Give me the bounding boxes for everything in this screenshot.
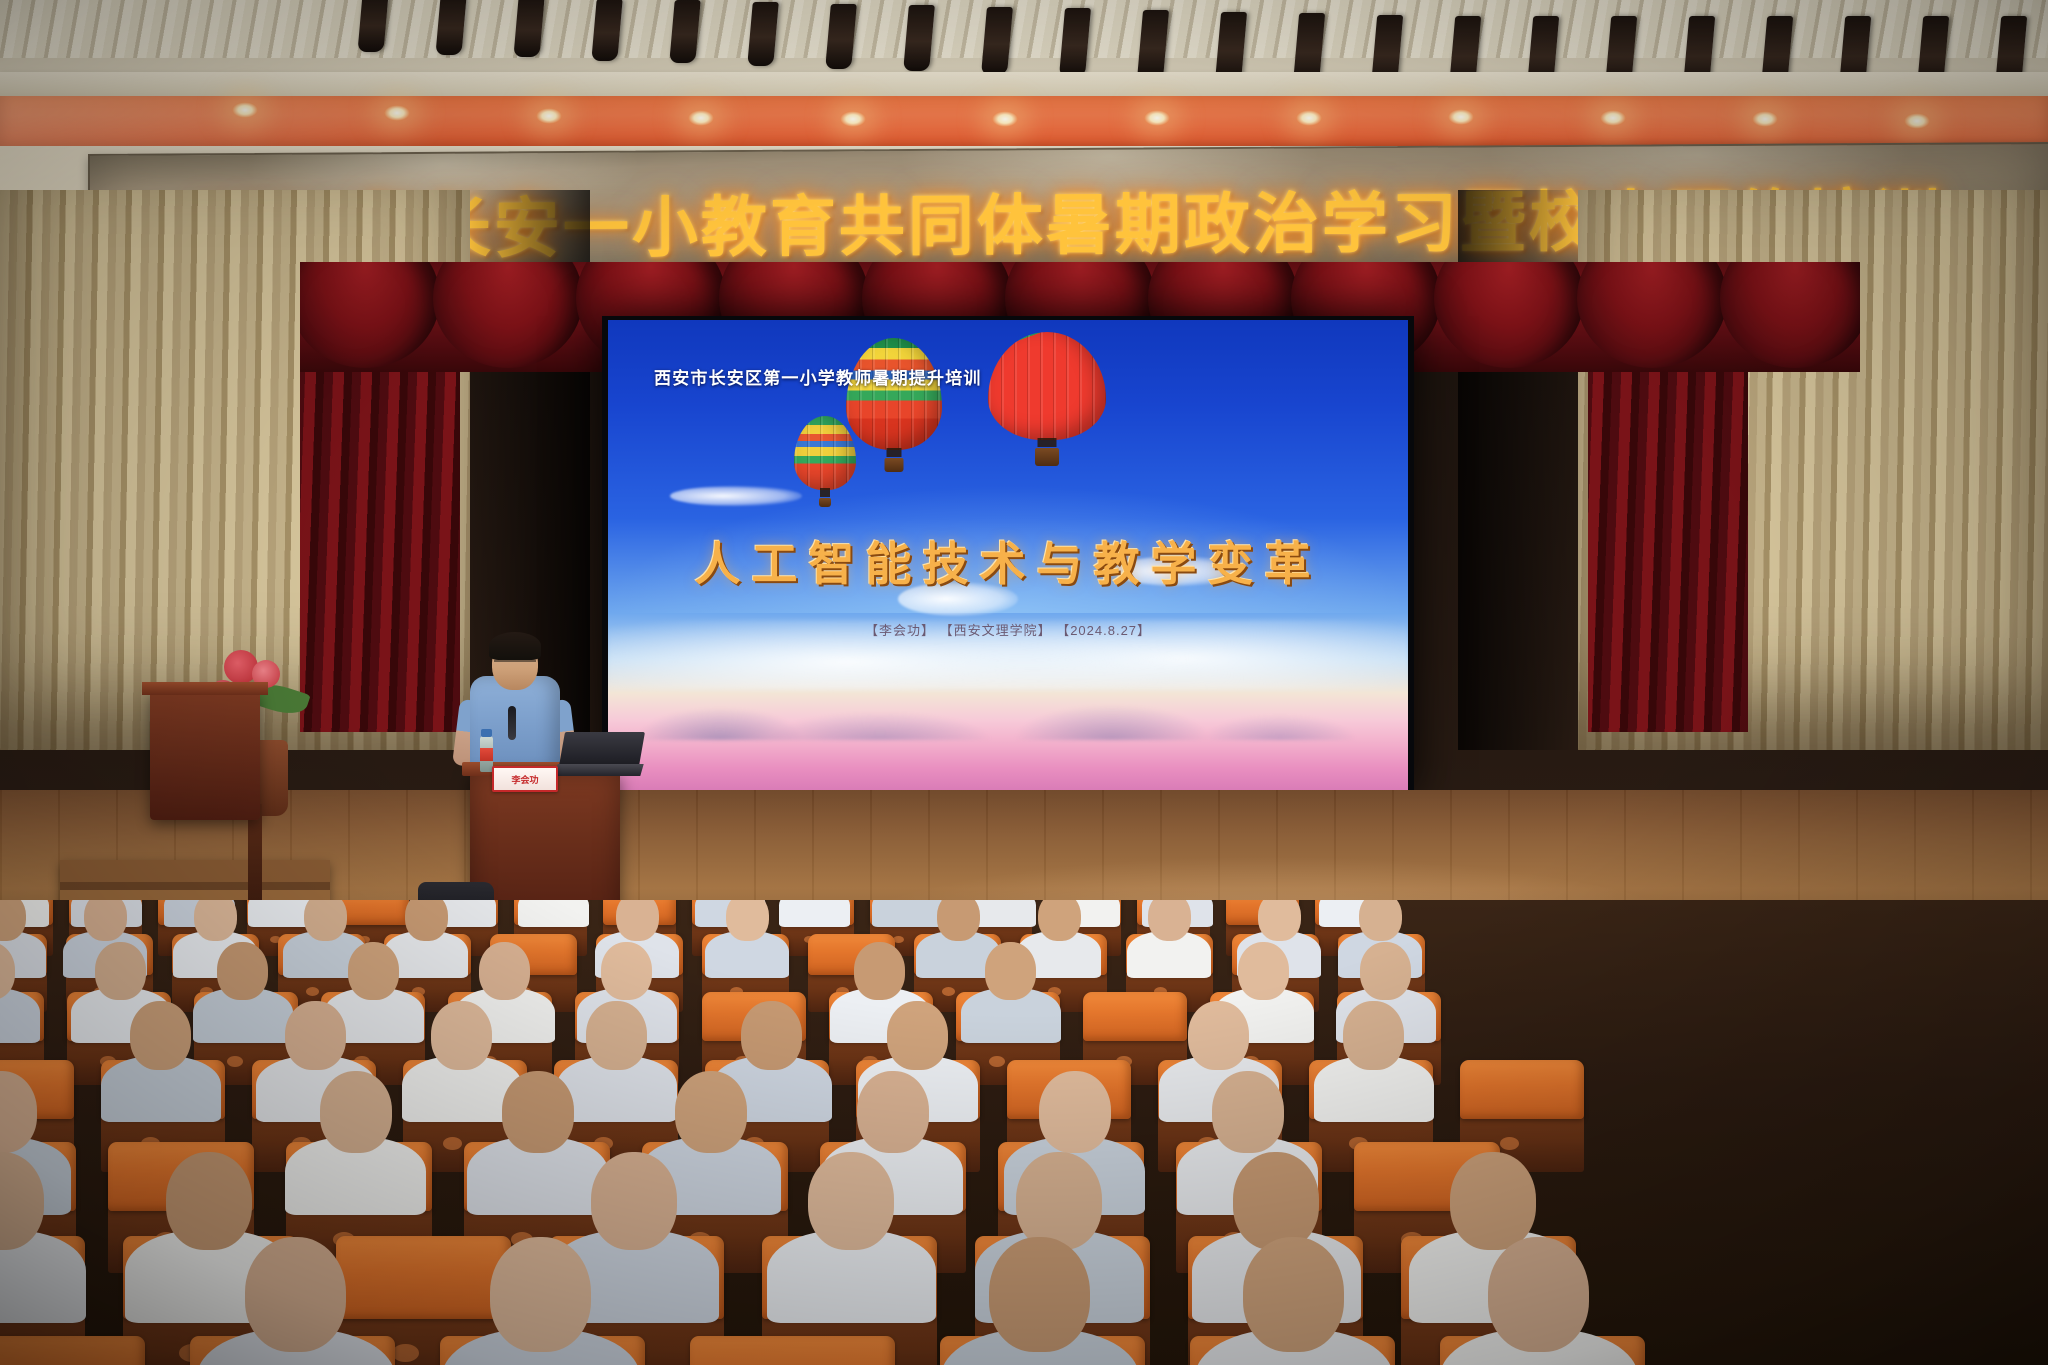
attendee-head [194,900,237,941]
side-lectern [150,690,260,820]
attendee-head [989,1237,1090,1352]
auditorium-seat[interactable] [336,1236,511,1319]
balloon-rainbow-small [794,416,856,490]
glasses-icon [494,660,536,670]
curtain-swag [300,262,440,368]
auditorium-seat[interactable] [690,1336,895,1365]
seat-emblem [392,1344,419,1362]
attendee-head [1039,1071,1111,1153]
attendee-head [245,1237,346,1352]
auditorium-seat[interactable] [1083,992,1187,1041]
attendee-head [854,942,905,1000]
attendee-head [675,1071,747,1153]
attendee-head [1148,900,1191,941]
attendee-head [1359,900,1402,941]
balloon-burner [887,448,902,457]
attendee-head [1243,1237,1344,1352]
seat-emblem [893,936,904,943]
attendee-head [84,900,127,941]
bottle-label [480,748,493,761]
balloon-gores [846,338,942,450]
attendee-shoulders [518,900,589,927]
slide-header: 西安市长安区第一小学教师暑期提升培训 [608,364,1408,389]
curtain-swag [433,262,583,368]
microphone-icon [508,706,516,740]
laptop-keyboard [554,764,643,776]
balloon-envelope [794,416,856,490]
attendee-head [741,1001,802,1070]
ceiling-fin [591,0,622,60]
seat-emblem [443,1137,462,1150]
cloud-wisp-left [670,486,802,506]
ceiling-fin [357,0,388,52]
attendee-head [1488,1237,1589,1352]
auditorium-seat[interactable] [0,1336,145,1365]
attendee-head [726,900,769,941]
attendee-head [1343,1001,1404,1070]
attendee-head [1360,942,1411,1000]
ceiling-downlight [688,110,714,126]
attendee-shoulders [779,900,850,927]
ceiling-downlight [1600,110,1626,126]
ceiling-slats [0,0,2048,58]
bottle-cap [481,729,492,737]
attendee-head [502,1071,574,1153]
balloon-basket [885,458,904,472]
attendee-head [1212,1071,1284,1153]
balloon-rainbow-large [846,338,942,450]
attendee-head [601,942,652,1000]
attendee-head [130,1001,191,1070]
attendee-head [320,1071,392,1153]
auditorium-seat[interactable] [1460,1060,1584,1119]
ceiling-downlight [232,102,258,118]
attendee-shoulders [872,900,943,927]
balloon-burner [1038,438,1057,447]
attendee-head [808,1152,894,1250]
seat-emblem [989,1056,1005,1067]
attendee-head [591,1152,677,1250]
attendee-head [1016,1152,1102,1250]
presentation-screen[interactable]: 西安市长安区第一小学教师暑期提升培训 人工智能技术与教学变革 【李会功】 【西安… [608,320,1408,792]
speaker-nameplate: 李会功 [492,766,558,792]
attendee-head [217,942,268,1000]
ceiling-downlight [840,111,866,127]
laptop-screen [559,732,645,766]
attendee-head [1238,942,1289,1000]
attendee-head [937,900,980,941]
auditorium-seat[interactable] [336,900,409,925]
attendee-head [1258,900,1301,941]
curtain-swag [1434,262,1584,368]
ceiling-downlight [1296,110,1322,126]
ceiling-fin [513,0,544,58]
slide-credits: 【李会功】 【西安文理学院】 【2024.8.27】 [608,620,1408,639]
side-lectern-top [142,682,268,695]
ceiling-fin [435,0,466,55]
attendee-head [285,1001,346,1070]
attendee-head [1450,1152,1536,1250]
curtain-swag [1720,262,1860,368]
attendee-head [348,942,399,1000]
attendee-head [166,1152,252,1250]
balloon-burner [820,488,830,497]
audience-seating [0,900,2048,1365]
attendee-head [1188,1001,1249,1070]
ceiling-downlight [992,111,1018,127]
attendee-head [405,900,448,941]
attendee-head [857,1071,929,1153]
attendee-head [586,1001,647,1070]
balloon-envelope [846,338,942,450]
distant-mountains [608,680,1408,740]
balloon-basket [819,498,831,507]
ceiling-fin [669,0,700,63]
attendee-head [431,1001,492,1070]
auditorium-photo: 2024年长安一小教育共同体暑期政治学习暨校本研修培训 西安市长安区第一小学教师… [0,0,2048,1365]
attendee-head [95,942,146,1000]
seat-emblem [1500,1137,1519,1150]
attendee-head [490,1237,591,1352]
ceiling-downlight [536,108,562,124]
attendee-head [887,1001,948,1070]
attendee-head [479,942,530,1000]
presenter-hair [489,632,541,660]
attendee-head [985,942,1036,1000]
balloon-gores [794,416,856,490]
curtain-swag [1577,262,1727,368]
attendee-head [1038,900,1081,941]
attendee-head [616,900,659,941]
attendee-head [1233,1152,1319,1250]
balloon-basket [1035,448,1059,466]
attendee-head [304,900,347,941]
seat-emblem [227,1056,243,1067]
slide-title: 人工智能技术与教学变革 [608,528,1408,594]
